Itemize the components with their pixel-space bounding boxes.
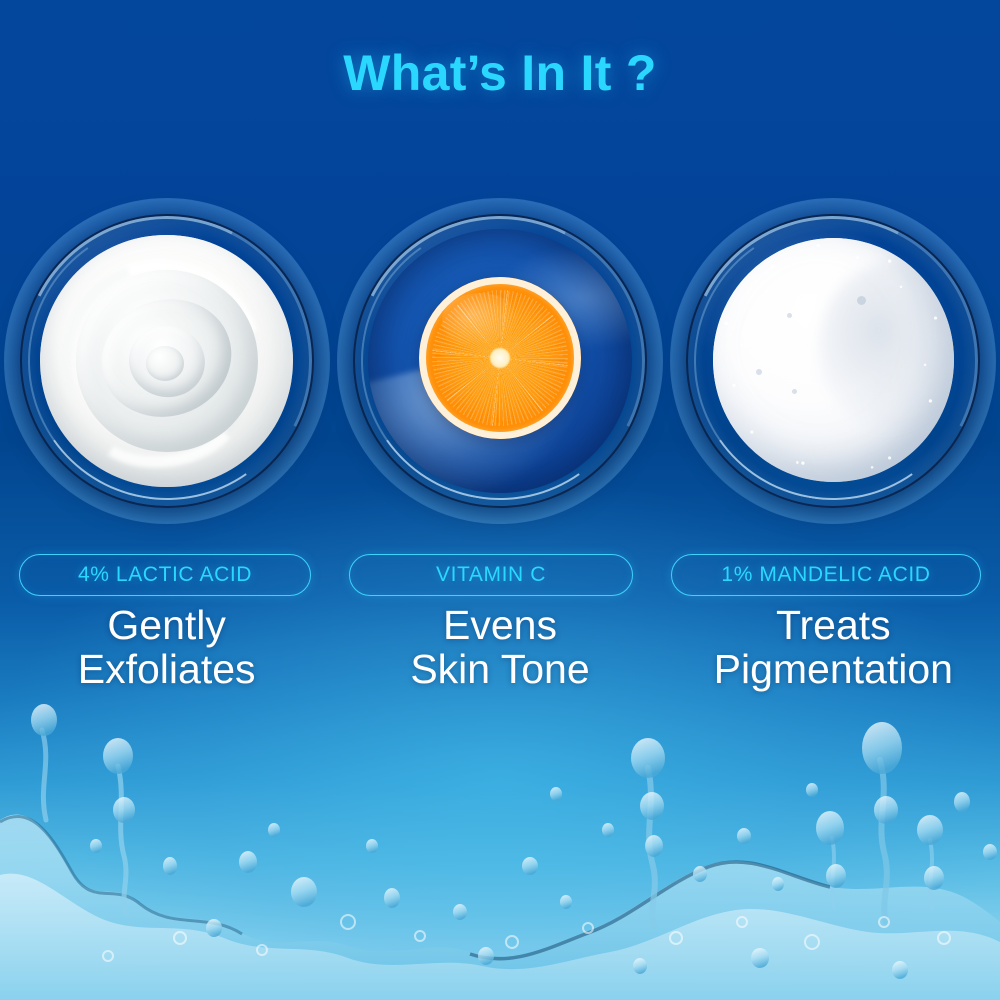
title-container: What’s In It ? — [0, 44, 1000, 102]
benefit-line-1: Gently — [7, 604, 327, 648]
page-title: What’s In It ? — [343, 44, 656, 102]
benefit-mandelic-acid: Treats Pigmentation — [673, 604, 993, 692]
water-bubbles — [103, 915, 950, 961]
benefit-line-2: Exfoliates — [7, 648, 327, 692]
glass-rim-edge — [686, 214, 980, 508]
benefit-text-row: Gently Exfoliates Evens Skin Tone Treats… — [0, 604, 1000, 714]
pill-mandelic-acid: 1% MANDELIC ACID — [671, 554, 981, 596]
glass-dish-orange — [353, 214, 647, 508]
benefit-vitamin-c: Evens Skin Tone — [340, 604, 660, 692]
promo-graphic: What’s In It ? — [0, 0, 1000, 1000]
water-splash-graphic — [0, 670, 1000, 1000]
benefit-line-1: Treats — [673, 604, 993, 648]
ingredient-pill-row: 4% LACTIC ACID VITAMIN C 1% MANDELIC ACI… — [0, 552, 1000, 598]
benefit-line-1: Evens — [340, 604, 660, 648]
glass-rim-edge — [20, 214, 314, 508]
glass-rim-edge — [353, 214, 647, 508]
glass-dish-powder — [686, 214, 980, 508]
ingredient-image-row — [0, 196, 1000, 526]
ingredient-image-vitamin-c — [340, 196, 660, 526]
glass-bowl-cream — [20, 214, 314, 508]
pill-lactic-acid: 4% LACTIC ACID — [19, 554, 311, 596]
ingredient-image-mandelic-acid — [673, 196, 993, 526]
pill-vitamin-c: VITAMIN C — [349, 554, 633, 596]
water-droplets — [31, 704, 997, 979]
benefit-line-2: Skin Tone — [340, 648, 660, 692]
ingredient-image-lactic-acid — [7, 196, 327, 526]
benefit-line-2: Pigmentation — [673, 648, 993, 692]
benefit-lactic-acid: Gently Exfoliates — [7, 604, 327, 692]
